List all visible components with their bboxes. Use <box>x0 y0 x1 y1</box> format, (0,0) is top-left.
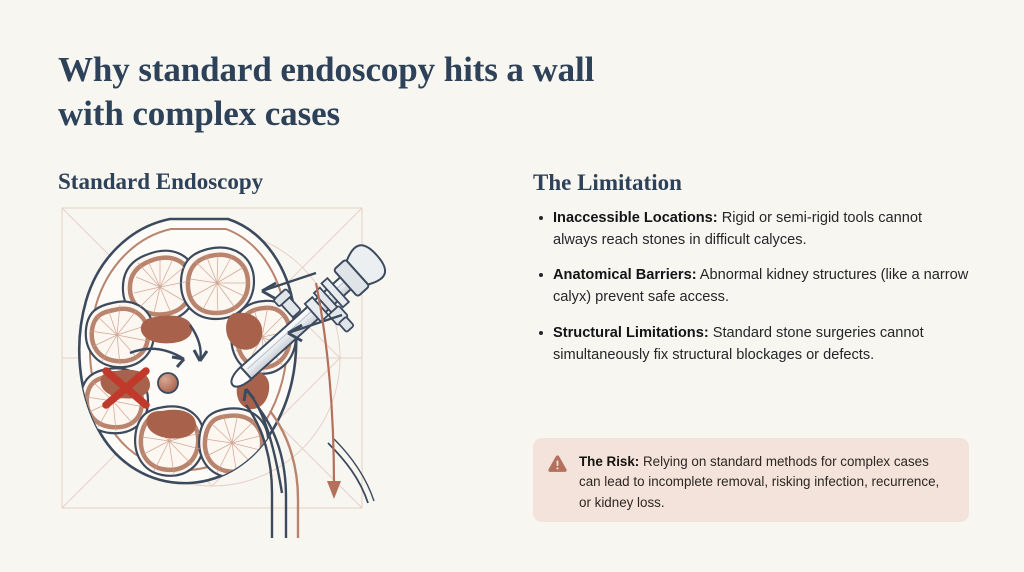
left-column-heading: Standard Endoscopy <box>58 169 263 195</box>
list-item: Anatomical Barriers: Abnormal kidney str… <box>536 265 970 308</box>
list-item-lead: Structural Limitations: <box>553 325 709 341</box>
bullet-dot-icon <box>539 273 543 277</box>
slide-canvas: Why standard endoscopy hits a wall with … <box>0 0 1024 572</box>
list-item-lead: Anatomical Barriers: <box>553 267 697 283</box>
list-item: Inaccessible Locations: Rigid or semi-ri… <box>536 208 970 251</box>
bullet-dot-icon <box>539 331 543 335</box>
bullet-dot-icon <box>539 216 543 220</box>
risk-callout: The Risk: Relying on standard methods fo… <box>533 438 969 522</box>
right-column-heading: The Limitation <box>533 170 682 196</box>
page-title: Why standard endoscopy hits a wall with … <box>58 48 758 136</box>
warning-triangle-icon <box>547 454 568 478</box>
list-item: Structural Limitations: Standard stone s… <box>536 323 970 366</box>
kidney-stone <box>158 373 178 393</box>
risk-callout-text: The Risk: Relying on standard methods fo… <box>579 452 953 513</box>
page-title-line-1: Why standard endoscopy hits a wall <box>58 48 758 92</box>
page-title-line-2: with complex cases <box>58 92 758 136</box>
risk-callout-lead: The Risk: <box>579 454 639 469</box>
kidney-illustration <box>50 193 390 538</box>
list-item-lead: Inaccessible Locations: <box>553 210 718 226</box>
limitation-list: Inaccessible Locations: Rigid or semi-ri… <box>536 208 970 366</box>
